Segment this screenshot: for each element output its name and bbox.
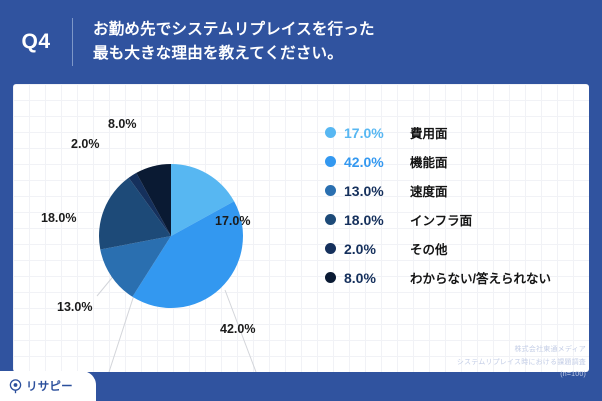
slide-header: Q4 お勤め先でシステムリプレイスを行った 最も大きな理由を教えてください。 xyxy=(0,0,602,84)
legend-swatch-icon-3 xyxy=(325,214,336,225)
pie-label-3: 18.0% xyxy=(41,211,76,225)
credit-line-1: 株式会社東通メディア xyxy=(457,344,586,356)
credit-line-2: システムリプレイス時における課題調査 xyxy=(457,357,586,369)
slide-root: Q4 お勤め先でシステムリプレイスを行った 最も大きな理由を教えてください。 xyxy=(0,0,602,401)
pie-slices xyxy=(99,164,243,308)
legend-row-3[interactable]: 18.0% インフラ面 xyxy=(313,205,589,234)
legend-label-2: 速度面 xyxy=(410,181,448,200)
legend-percent-4: 2.0% xyxy=(344,241,410,257)
legend-row-0[interactable]: 17.0% 費用面 xyxy=(313,118,589,147)
legend-swatch-icon-2 xyxy=(325,185,336,196)
pie-chart-svg xyxy=(13,84,313,372)
legend-label-0: 費用面 xyxy=(410,123,448,142)
legend-row-4[interactable]: 2.0% その他 xyxy=(313,234,589,263)
legend-swatch-icon-0 xyxy=(325,127,336,138)
legend-percent-1: 42.0% xyxy=(344,154,410,170)
legend-label-3: インフラ面 xyxy=(410,210,472,229)
pie-chart-area: 17.0% 42.0% 13.0% 18.0% 2.0% 8.0% xyxy=(13,84,313,372)
location-pin-icon xyxy=(9,379,22,394)
legend-row-2[interactable]: 13.0% 速度面 xyxy=(313,176,589,205)
source-credit: 株式会社東通メディア システムリプレイス時における課題調査 (n=100) xyxy=(457,344,586,381)
pie-label-2: 13.0% xyxy=(57,300,92,314)
pie-label-1: 42.0% xyxy=(220,322,255,336)
question-title-line-2: 最も大きな理由を教えてください。 xyxy=(93,42,375,66)
pie-label-0: 17.0% xyxy=(215,214,250,228)
legend-row-5[interactable]: 8.0% わからない/答えられない xyxy=(313,263,589,292)
legend-label-4: その他 xyxy=(410,239,448,258)
pie-label-4: 2.0% xyxy=(71,137,100,151)
legend-row-1[interactable]: 42.0% 機能面 xyxy=(313,147,589,176)
brand-logo[interactable]: リサピー xyxy=(0,371,96,401)
legend-percent-0: 17.0% xyxy=(344,125,410,141)
legend-percent-2: 13.0% xyxy=(344,183,410,199)
chart-card: 17.0% 42.0% 13.0% 18.0% 2.0% 8.0% 17.0% … xyxy=(13,84,589,372)
legend-label-5: わからない/答えられない xyxy=(410,268,551,287)
brand-logo-text: リサピー xyxy=(26,378,73,394)
question-title-line-1: お勤め先でシステムリプレイスを行った xyxy=(93,18,375,42)
legend-percent-5: 8.0% xyxy=(344,270,410,286)
legend-label-1: 機能面 xyxy=(410,152,448,171)
legend-percent-3: 18.0% xyxy=(344,212,410,228)
legend-swatch-icon-1 xyxy=(325,156,336,167)
credit-line-3: (n=100) xyxy=(457,369,586,381)
pie-label-5: 8.0% xyxy=(108,117,137,131)
legend-swatch-icon-4 xyxy=(325,243,336,254)
question-title: お勤め先でシステムリプレイスを行った 最も大きな理由を教えてください。 xyxy=(93,18,375,66)
legend-swatch-icon-5 xyxy=(325,272,336,283)
question-number: Q4 xyxy=(0,30,72,54)
header-divider xyxy=(72,18,73,66)
chart-legend: 17.0% 費用面 42.0% 機能面 13.0% 速度面 18.0% インフラ… xyxy=(313,118,589,292)
